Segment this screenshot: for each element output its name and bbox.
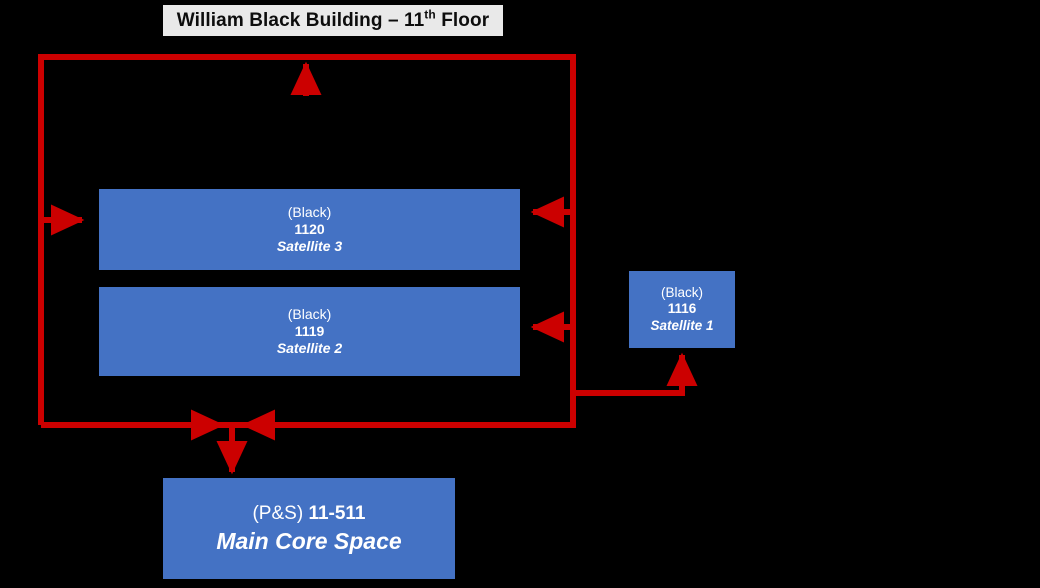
room-1116-role: Satellite 1 [650, 318, 713, 334]
room-1120-role: Satellite 3 [277, 238, 342, 255]
diagram-title-superscript: th [424, 7, 436, 21]
core-number: 11-511 [308, 503, 365, 524]
diagram-title-text: William Black Building – 11th Floor [177, 10, 489, 32]
arrow-into-1116 [573, 355, 682, 393]
room-1116-designation: (Black) [661, 285, 703, 301]
diagram-title: William Black Building – 11th Floor [163, 5, 503, 36]
room-1119-role: Satellite 2 [277, 340, 342, 357]
room-box-1120[interactable]: (Black) 1120 Satellite 3 [99, 189, 520, 270]
core-header-line: (P&S) 11-511 [252, 502, 365, 525]
room-1120-number: 1120 [294, 221, 324, 238]
floor-diagram-canvas: William Black Building – 11th Floor [0, 0, 1040, 588]
room-1119-number: 1119 [295, 323, 325, 340]
diagram-title-suffix: Floor [436, 10, 489, 31]
core-role: Main Core Space [216, 527, 401, 555]
core-designation: (P&S) [252, 503, 303, 524]
room-1119-designation: (Black) [288, 306, 332, 323]
room-1116-number: 1116 [668, 301, 697, 317]
room-box-1119[interactable]: (Black) 1119 Satellite 2 [99, 287, 520, 376]
room-box-1116[interactable]: (Black) 1116 Satellite 1 [629, 271, 735, 348]
room-box-main-core-space[interactable]: (P&S) 11-511 Main Core Space [163, 478, 455, 579]
diagram-title-main: William Black Building – 11 [177, 10, 425, 31]
room-1120-designation: (Black) [288, 204, 332, 221]
